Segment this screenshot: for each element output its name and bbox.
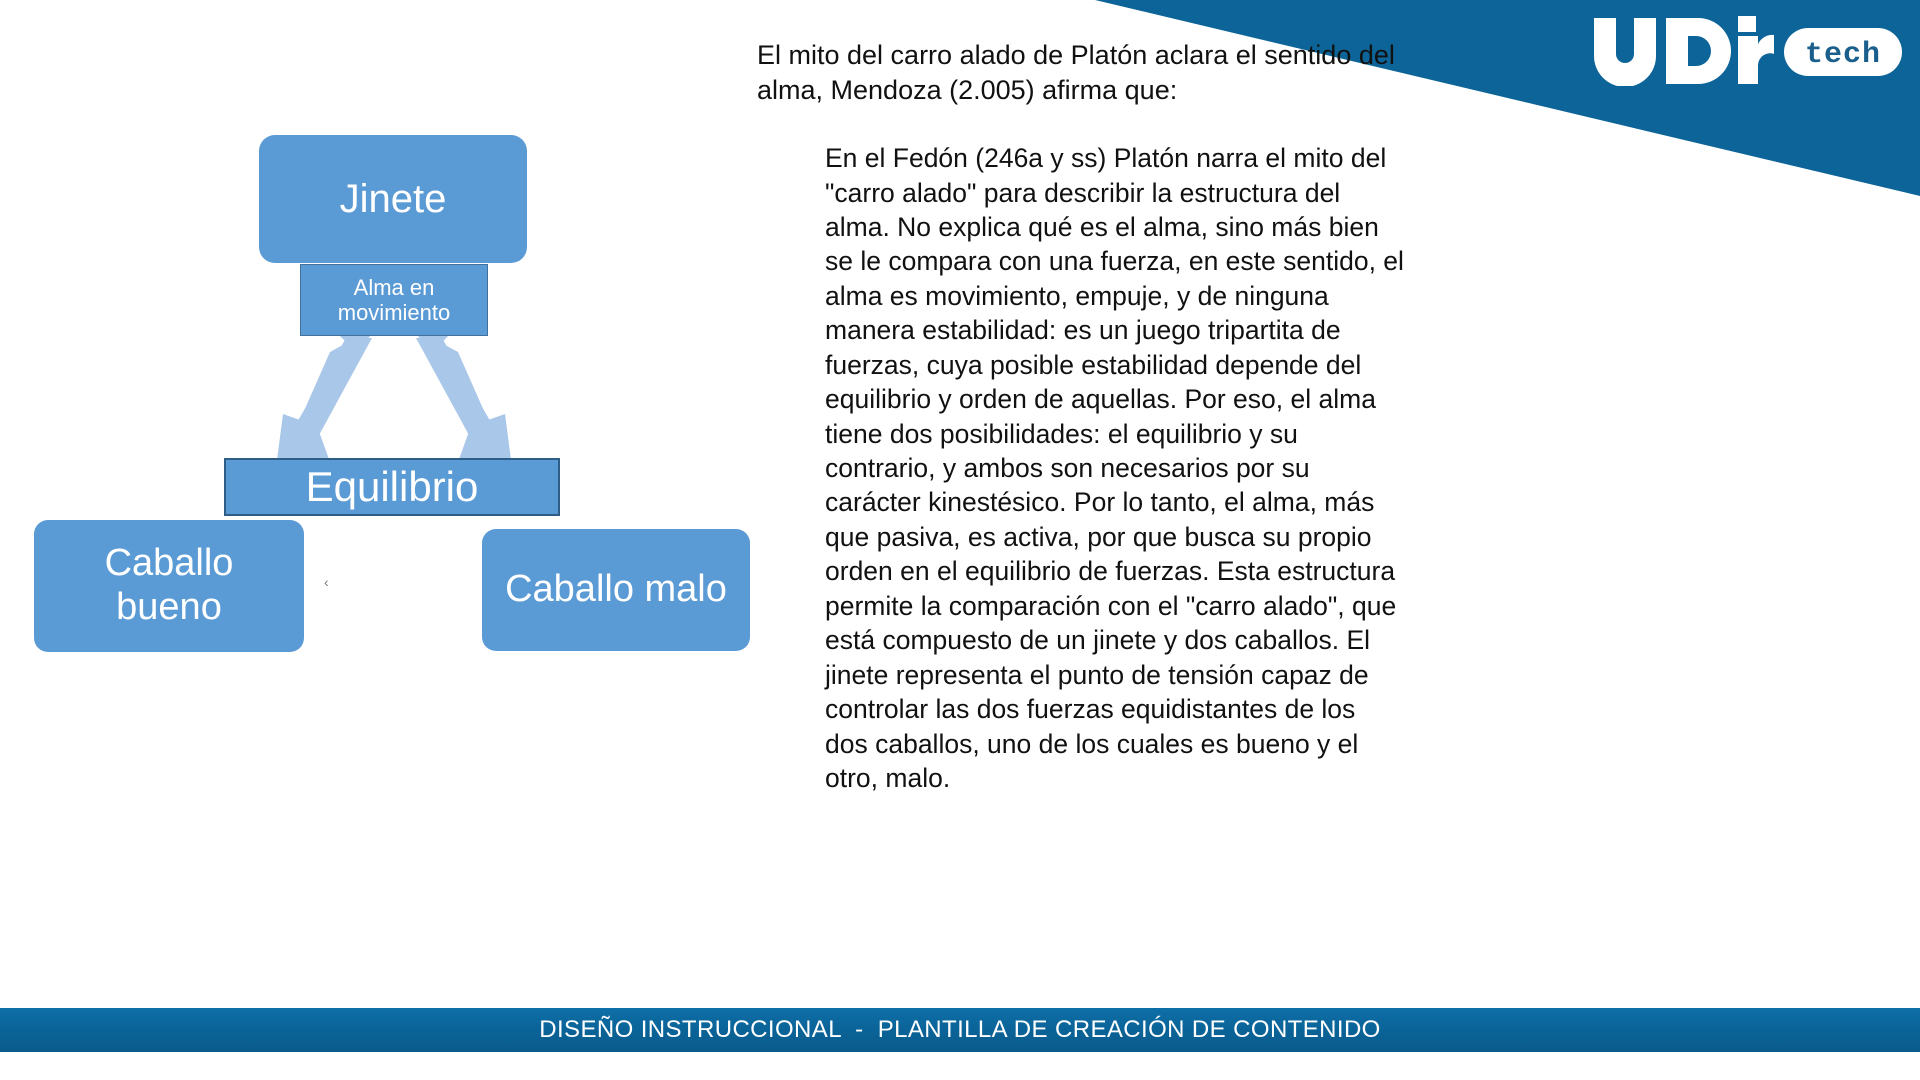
small-tick-mark: ‹ bbox=[324, 578, 332, 586]
node-jinete-label: Jinete bbox=[340, 176, 447, 222]
diagram-node-alma-en-movimiento[interactable]: Alma en movimiento bbox=[300, 264, 488, 336]
node-alma-label-line1: Alma en bbox=[354, 275, 435, 300]
diagram-node-jinete[interactable]: Jinete bbox=[259, 135, 527, 263]
svg-text:tech: tech bbox=[1805, 38, 1881, 72]
node-caballo-bueno-label-line1: Caballo bbox=[105, 542, 234, 586]
lead-paragraph: El mito del carro alado de Platón aclara… bbox=[757, 38, 1397, 107]
body-text-column: El mito del carro alado de Platón aclara… bbox=[757, 38, 1417, 795]
footer-title: DISEÑO INSTRUCCIONAL - PLANTILLA DE CREA… bbox=[539, 1016, 1381, 1044]
slide-canvas: tech bbox=[0, 0, 1920, 1080]
quote-paragraph: En el Fedón (246a y ss) Platón narra el … bbox=[825, 141, 1405, 795]
node-caballo-bueno-label-line2: bueno bbox=[116, 586, 222, 630]
diagram-node-caballo-malo[interactable]: Caballo malo bbox=[482, 529, 750, 651]
footer-bar: DISEÑO INSTRUCCIONAL - PLANTILLA DE CREA… bbox=[0, 1008, 1920, 1052]
diagram-node-equilibrio[interactable]: Equilibrio bbox=[224, 458, 560, 516]
udi-tech-logo: tech bbox=[1588, 14, 1908, 86]
node-caballo-malo-label: Caballo malo bbox=[505, 568, 727, 612]
node-alma-label-line2: movimiento bbox=[338, 300, 450, 325]
node-equilibrio-label: Equilibrio bbox=[306, 463, 479, 511]
diagram-node-caballo-bueno[interactable]: Caballo bueno bbox=[34, 520, 304, 652]
soul-chariot-diagram: Jinete Alma en movimiento Equilibrio Cab… bbox=[0, 0, 790, 1020]
